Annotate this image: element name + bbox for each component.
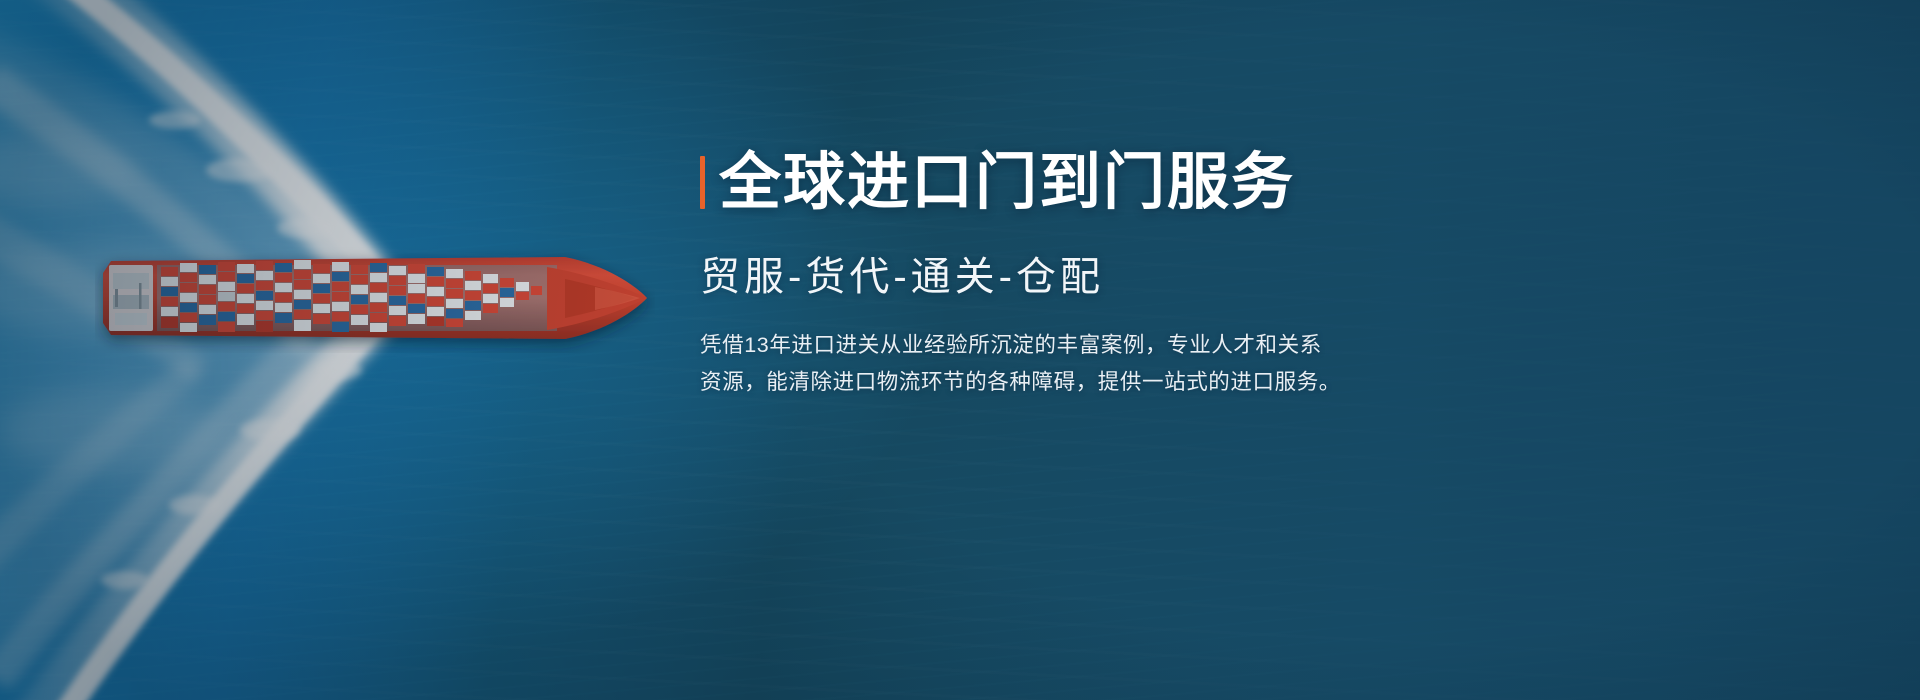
page-title: 全球进口门到门服务 [719,150,1295,217]
description-line-2: 资源，能清除进口物流环节的各种障碍，提供一站式的进口服务。 [700,364,1420,401]
hero-banner: 全球进口门到门服务 贸服-货代-通关-仓配 凭借13年进口进关从业经验所沉淀的丰… [0,0,1920,700]
subtitle: 贸服-货代-通关-仓配 [700,253,1460,301]
accent-bar-icon [700,156,705,209]
banner-content: 全球进口门到门服务 贸服-货代-通关-仓配 凭借13年进口进关从业经验所沉淀的丰… [700,150,1460,401]
headline-row: 全球进口门到门服务 [700,150,1460,217]
description-paragraph: 凭借13年进口进关从业经验所沉淀的丰富案例，专业人才和关系 资源，能清除进口物流… [700,327,1420,401]
description-line-1: 凭借13年进口进关从业经验所沉淀的丰富案例，专业人才和关系 [700,327,1420,364]
